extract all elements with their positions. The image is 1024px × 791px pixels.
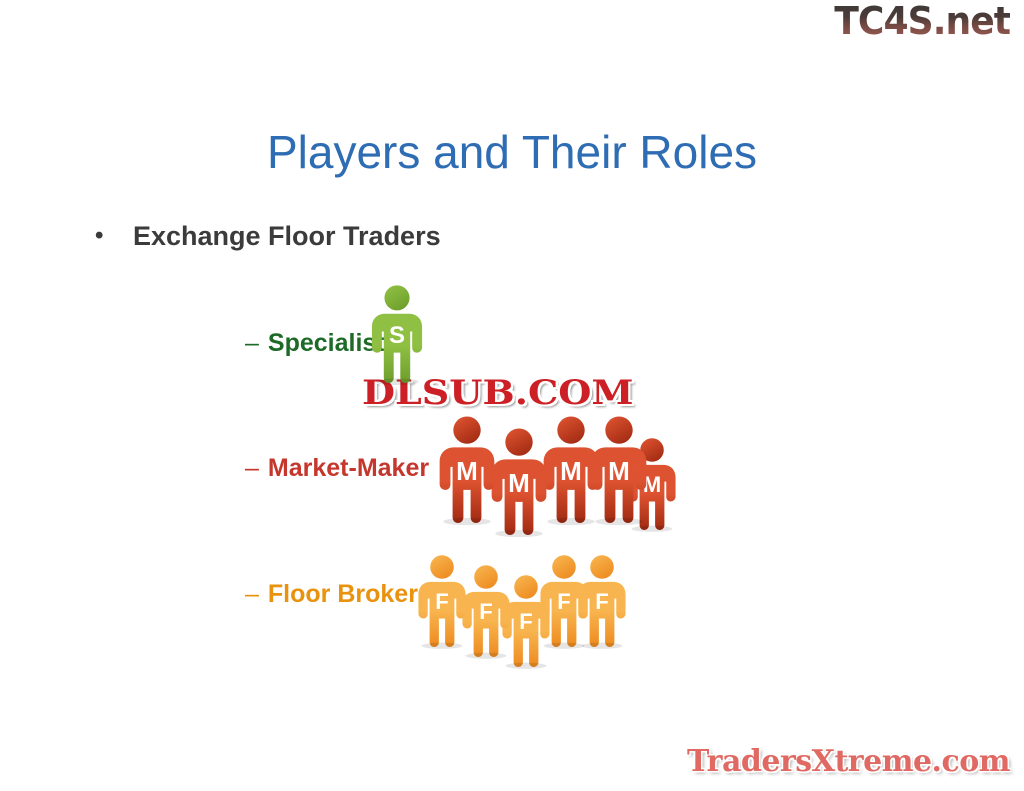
bullet-marker-icon: • (95, 216, 133, 256)
dash-marker-icon: – (245, 326, 259, 360)
body-content: • Exchange Floor Traders – Specialist – … (95, 216, 795, 256)
person-icon: F (411, 554, 473, 647)
sub-bullet-market-maker: – Market-Maker (245, 451, 429, 485)
sub-bullet-label: Market-Maker (268, 451, 429, 485)
slide-canvas: TC4S.net Players and Their Roles • Excha… (0, 0, 1024, 791)
bullet-exchange-floor-traders: • Exchange Floor Traders (95, 216, 795, 256)
floor-broker-figure-group: F F F (405, 552, 610, 662)
tradersxtreme-watermark: TradersXtreme.com (687, 747, 1010, 777)
sub-bullet-floor-broker: – Floor Broker (245, 577, 418, 611)
bullet-label: Exchange Floor Traders (133, 216, 441, 256)
person-icon: M (431, 415, 503, 523)
sub-bullet-label: Floor Broker (268, 577, 418, 611)
tc4s-watermark: TC4S.net (834, 2, 1010, 40)
dash-marker-icon: – (245, 451, 259, 485)
page-title: Players and Their Roles (0, 124, 1024, 180)
market-maker-figure-group: M M M (425, 415, 680, 550)
dash-marker-icon: – (245, 577, 259, 611)
person-icon: S (364, 284, 430, 383)
